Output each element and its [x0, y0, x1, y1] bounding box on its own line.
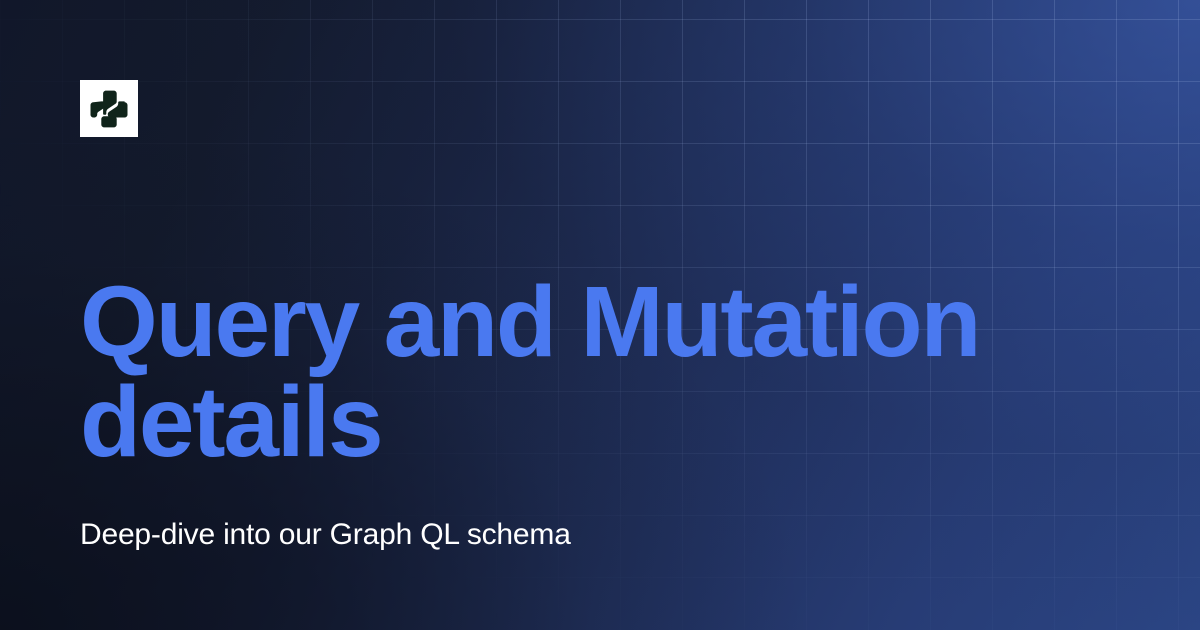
- page-title: Query and Mutation details: [80, 272, 1080, 472]
- brand-logo: [80, 80, 138, 137]
- puzzle-cross-logo-icon: [90, 90, 128, 128]
- page-subtitle: Deep-dive into our Graph QL schema: [80, 472, 1080, 554]
- card-content: Query and Mutation details Deep-dive int…: [80, 272, 1080, 554]
- social-share-card: Query and Mutation details Deep-dive int…: [0, 0, 1200, 630]
